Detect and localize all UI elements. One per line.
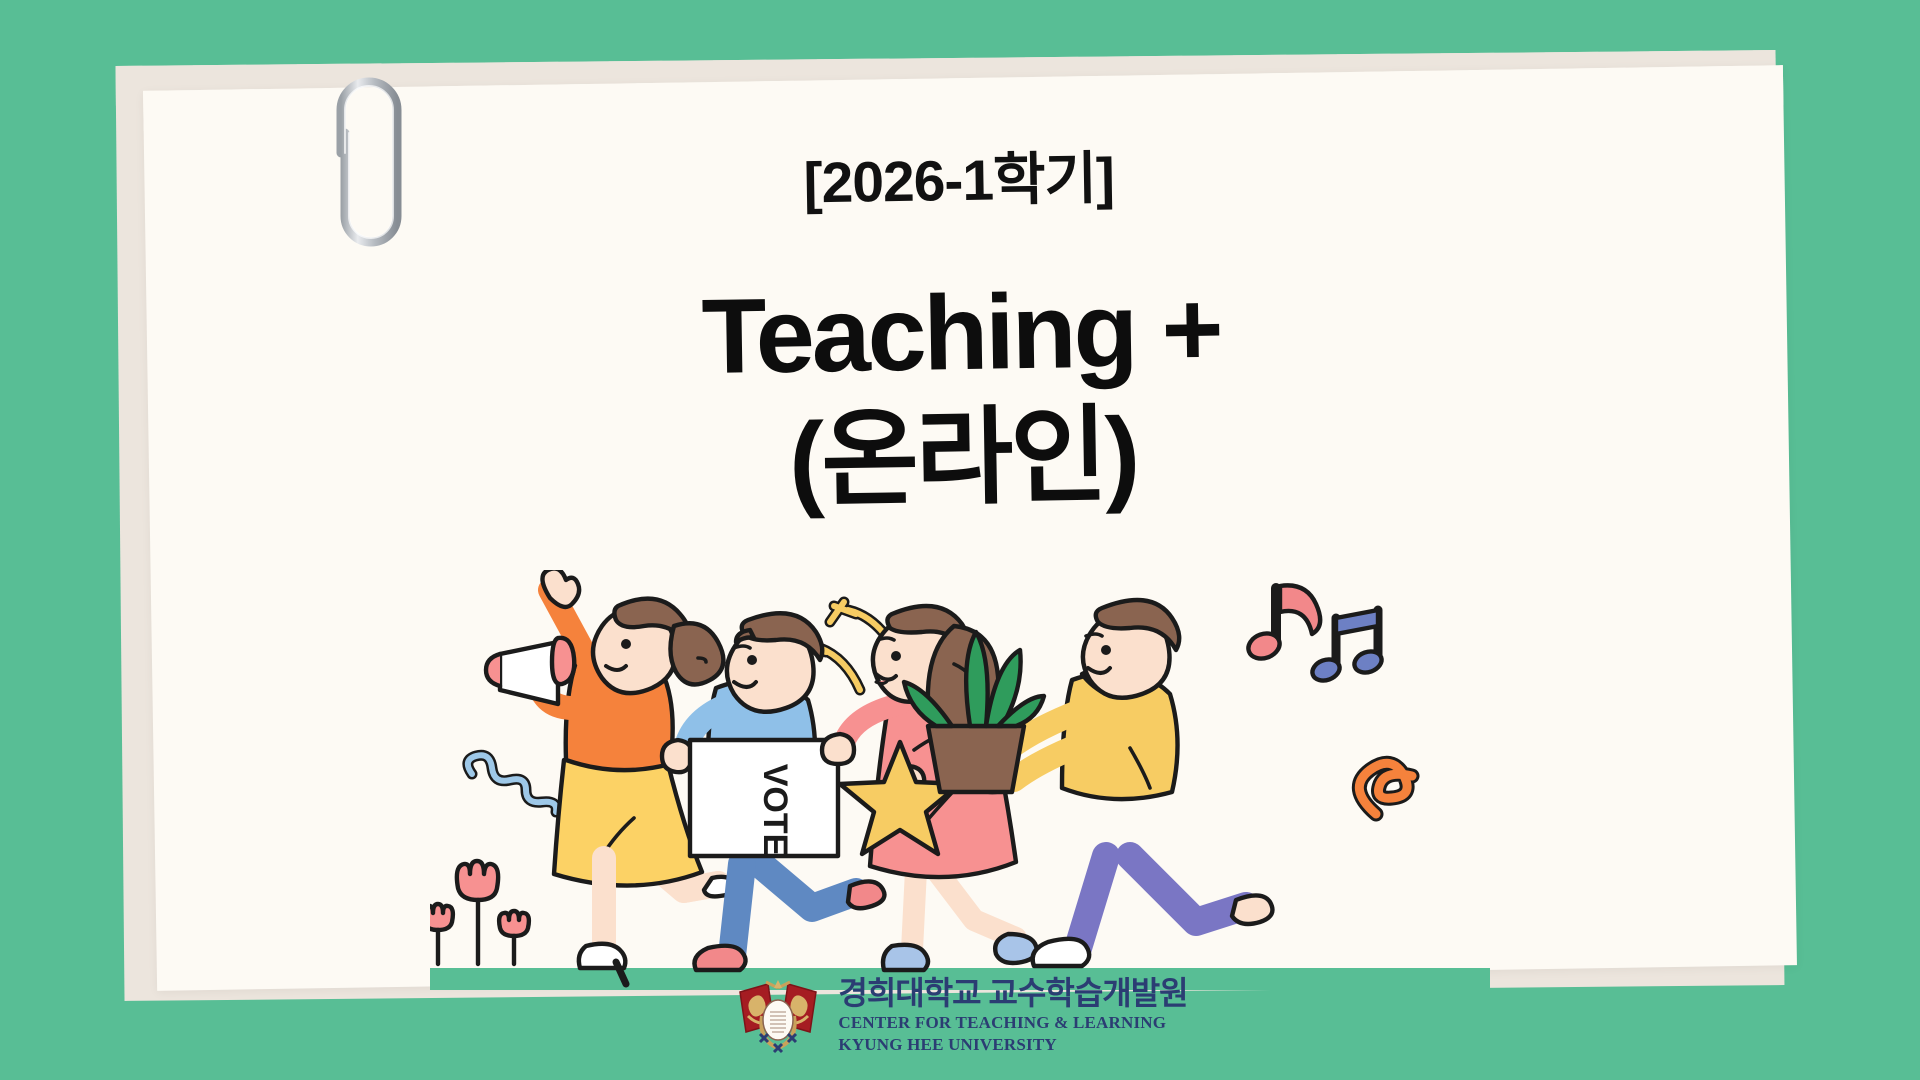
title-line-1: Teaching + bbox=[701, 270, 1222, 396]
page-title: Teaching + (온라인) bbox=[0, 256, 1920, 536]
blue-squiggle-decoration bbox=[468, 755, 556, 812]
footer-logo: 경희대학교 교수학습개발원 CENTER FOR TEACHING & LEAR… bbox=[0, 972, 1920, 1058]
vote-sign-text: VOTE bbox=[756, 764, 794, 857]
semester-label: [2026-1학기] bbox=[0, 135, 1919, 228]
paperclip-icon bbox=[300, 38, 440, 253]
footer-logo-korean: 경희대학교 교수학습개발원 bbox=[838, 977, 1187, 1009]
heading-block: [2026-1학기] Teaching + (온라인) bbox=[0, 0, 1920, 536]
pink-tulip-decoration bbox=[430, 861, 529, 964]
poster-canvas: [2026-1학기] Teaching + (온라인) bbox=[0, 0, 1920, 1080]
people-walking-illustration: VOTE bbox=[430, 570, 1490, 990]
footer-logo-english-line-1: CENTER FOR TEACHING & LEARNING bbox=[838, 1014, 1187, 1031]
orange-curl-decoration bbox=[1359, 763, 1412, 814]
footer-logo-text: 경희대학교 교수학습개발원 CENTER FOR TEACHING & LEAR… bbox=[838, 977, 1187, 1053]
footer-logo-english-line-2: KYUNG HEE UNIVERSITY bbox=[838, 1036, 1187, 1053]
music-note-decoration bbox=[1245, 585, 1385, 684]
kyung-hee-university-crest-icon bbox=[732, 972, 824, 1058]
